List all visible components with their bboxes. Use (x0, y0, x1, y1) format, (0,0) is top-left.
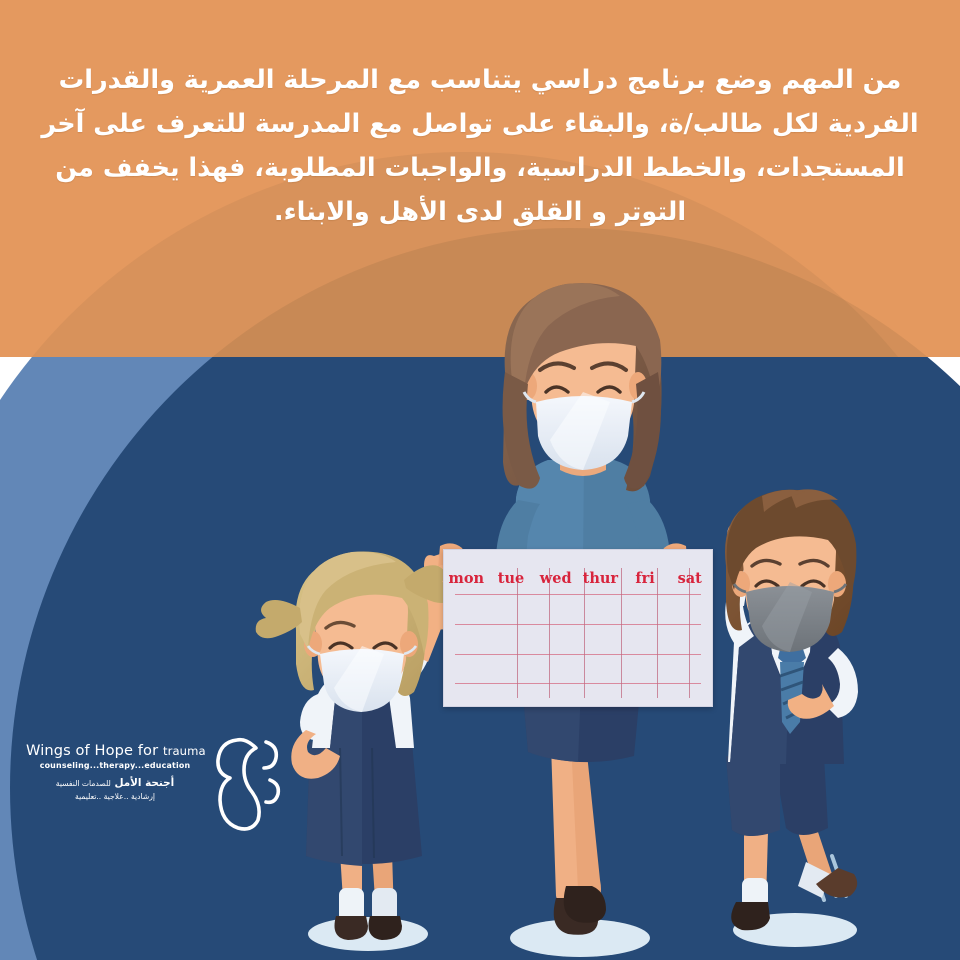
logo-name-suffix: trauma (163, 744, 206, 758)
poster-canvas: من المهم وضع برنامج دراسي يتناسب مع المر… (0, 0, 960, 960)
character-schoolboy (725, 489, 858, 930)
logo-tagline-en: counseling...therapy...education (26, 761, 204, 770)
character-schoolgirl (256, 551, 471, 940)
butterfly-outline-icon (204, 728, 286, 838)
teacher-face-mask (524, 392, 644, 470)
board-row-line (455, 683, 701, 684)
day-header-wed: wed (533, 570, 578, 587)
day-header-tue: tue (489, 570, 534, 587)
board-row-line (455, 654, 701, 655)
organization-logo[interactable]: Wings of Hope for trauma counseling...th… (26, 728, 286, 840)
weekly-schedule-board[interactable]: mon tue wed thur fri sat (443, 549, 713, 707)
logo-name-main: Wings of Hope for (26, 742, 158, 759)
logo-name-ar-sub: للصدمات النفسية (56, 779, 111, 788)
logo-name-en: Wings of Hope for trauma (26, 742, 204, 759)
board-row-line (455, 594, 701, 595)
day-header-sat: sat (667, 570, 712, 587)
logo-name-ar: أجنحة الأمل للصدمات النفسية (26, 777, 204, 789)
board-day-header-row: mon tue wed thur fri sat (444, 566, 712, 590)
day-header-thur: thur (578, 570, 623, 587)
logo-name-ar-main: أجنحة الأمل (114, 777, 174, 789)
board-row-line (455, 624, 701, 625)
day-header-fri: fri (623, 570, 668, 587)
logo-text-block: Wings of Hope for trauma counseling...th… (26, 742, 204, 801)
logo-tagline-ar: إرشادية ..علاجية ..تعليمية (26, 792, 204, 801)
day-header-mon: mon (444, 570, 489, 587)
